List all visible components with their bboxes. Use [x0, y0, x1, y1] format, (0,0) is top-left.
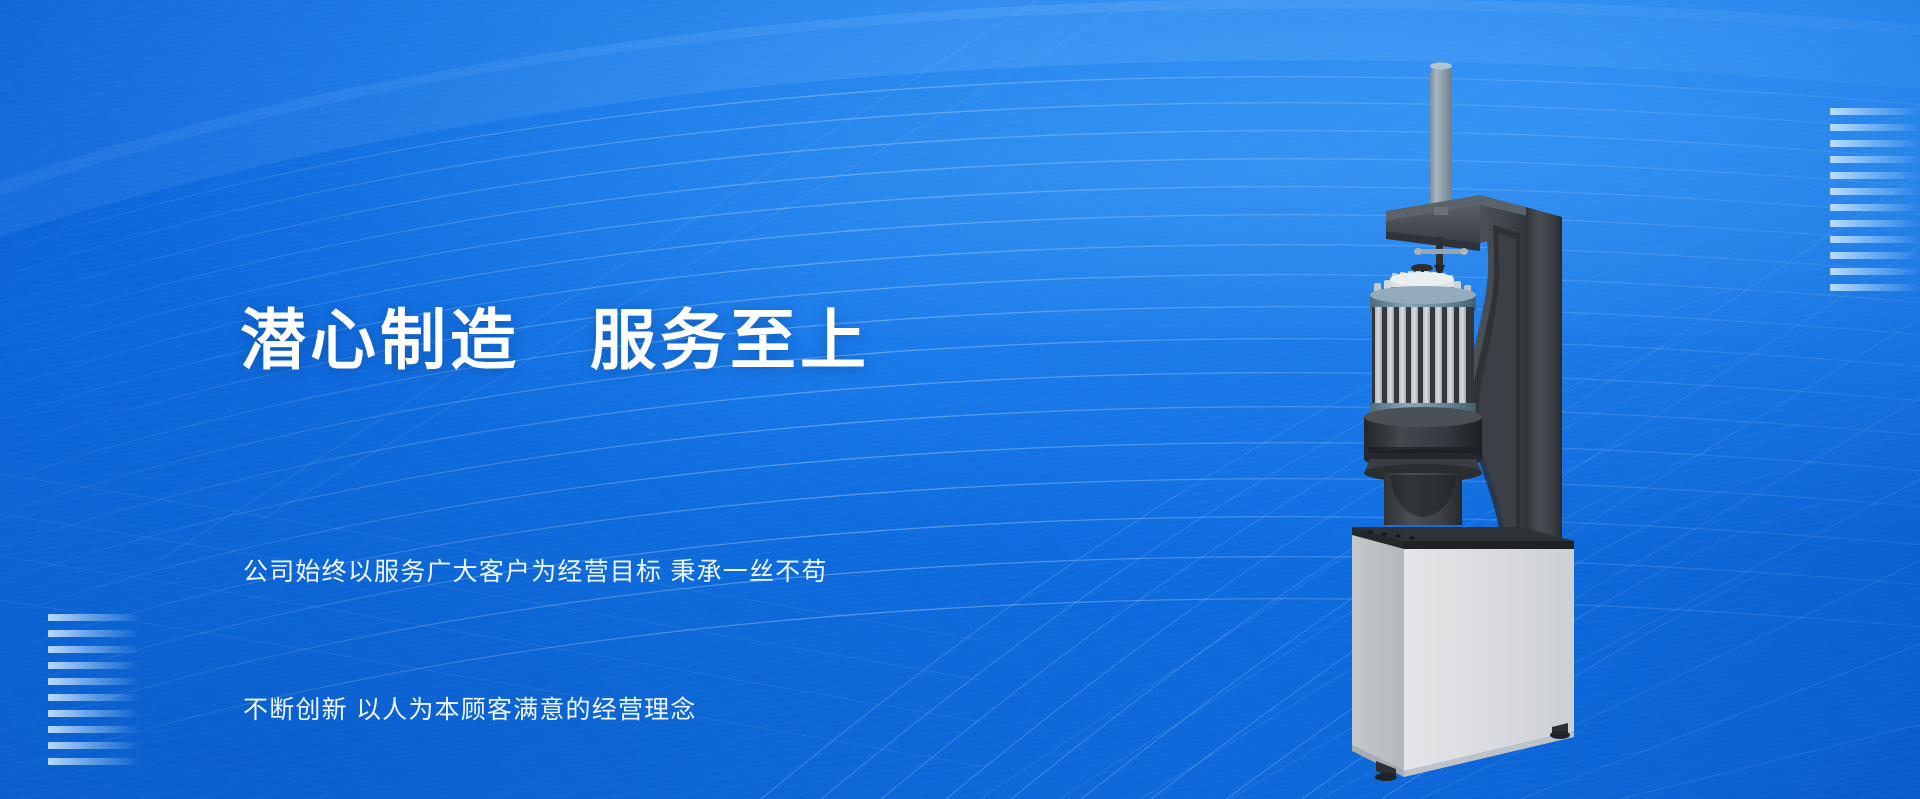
support-column: [1468, 205, 1562, 583]
filter-basket-cylinder: [1370, 264, 1476, 430]
pneumatic-cylinder-rod: [1430, 62, 1452, 220]
gradient-bar: [1830, 156, 1920, 163]
gradient-bar: [1830, 188, 1920, 195]
gradient-bar: [48, 742, 140, 749]
dark-collar: [1364, 407, 1482, 525]
gradient-bar: [48, 646, 140, 653]
gradient-bar: [48, 694, 140, 701]
banner-subtitle: 公司始终以服务广大客户为经营目标 秉承一丝不苟 不断创新 以人为本顾客满意的经营…: [243, 457, 828, 799]
gradient-bar: [48, 726, 140, 733]
banner-subtitle-line-1: 公司始终以服务广大客户为经营目标 秉承一丝不苟: [243, 549, 828, 595]
gradient-bar-stack-left: [48, 614, 140, 774]
banner-subtitle-line-2: 不断创新 以人为本顾客满意的经营理念: [243, 687, 828, 733]
product-image-industrial-machine: [1330, 55, 1630, 799]
gradient-bar: [1830, 204, 1920, 211]
gradient-bar: [1830, 268, 1920, 275]
gradient-bar: [48, 614, 140, 621]
gradient-bar: [1830, 108, 1920, 115]
gradient-bar: [1830, 172, 1920, 179]
gradient-bar: [1830, 284, 1920, 291]
gradient-bar: [1830, 220, 1920, 227]
gradient-bar: [1830, 124, 1920, 131]
gradient-bar: [48, 710, 140, 717]
gradient-bar: [1830, 252, 1920, 259]
gradient-bar: [1830, 140, 1920, 147]
white-cabinet-base: [1352, 527, 1574, 781]
gradient-bar: [1830, 236, 1920, 243]
banner-headline: 潜心制造 服务至上: [240, 305, 870, 376]
gradient-bar: [48, 678, 140, 685]
gradient-bar: [48, 662, 140, 669]
gradient-bar-stack-right: [1830, 108, 1920, 300]
hero-banner: 潜心制造 服务至上 公司始终以服务广大客户为经营目标 秉承一丝不苟 不断创新 以…: [0, 0, 1920, 799]
gradient-bar: [48, 758, 140, 765]
gradient-bar: [48, 630, 140, 637]
background-glow: [0, 0, 1920, 336]
